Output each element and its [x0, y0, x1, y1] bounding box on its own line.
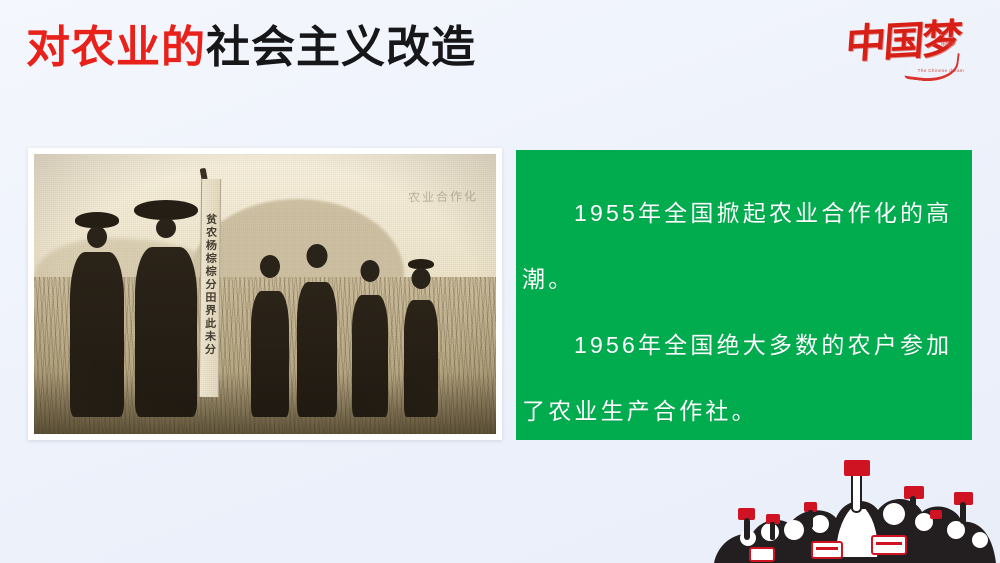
historical-photo-land-reform: 农业合作化 贫农杨棕棕分田界此未分	[34, 154, 496, 434]
crowd-arm	[744, 518, 750, 540]
red-book-icon	[930, 510, 942, 519]
crowd-figures	[714, 460, 996, 563]
green-text-panel: 1955年全国掀起农业合作化的高潮。 1956年全国绝大多数的农户参加了农业生产…	[516, 150, 972, 440]
crowd-head	[883, 503, 905, 525]
placard-line	[816, 547, 838, 550]
placard	[750, 548, 774, 561]
seal-stamp-icon: 中国梦	[941, 41, 956, 48]
crowd-arm	[770, 522, 775, 540]
page-title-highlight: 对农业的	[26, 23, 206, 72]
crowd-arm	[960, 502, 966, 524]
crowd-hero-arm	[852, 472, 861, 512]
photo-vignette-overlay	[34, 154, 496, 434]
crowd-head	[784, 520, 804, 540]
green-panel-paragraph-2: 1956年全国绝大多数的农户参加了农业生产合作社。	[522, 312, 964, 444]
crowd-head	[811, 515, 829, 533]
green-panel-paragraph-1: 1955年全国掀起农业合作化的高潮。	[522, 180, 964, 312]
crowd-arm	[910, 496, 916, 518]
page-title: 对农业的社会主义改造	[26, 20, 476, 76]
crowd-arm	[808, 510, 813, 528]
brush-swash-icon	[904, 47, 960, 85]
china-dream-logo: 中国梦 中国梦 The Chinese dream	[846, 16, 964, 88]
page-title-rest: 社会主义改造	[206, 23, 476, 72]
cheering-crowd-illustration	[708, 458, 1000, 563]
crowd-head	[972, 532, 988, 548]
placard-line	[876, 542, 902, 545]
logo-latin-tagline: The Chinese dream	[918, 68, 964, 74]
red-book-icon	[844, 460, 870, 476]
photo-frame: 农业合作化 贫农杨棕棕分田界此未分	[28, 148, 502, 440]
crowd-svg	[708, 458, 1000, 563]
slide-canvas: 对农业的社会主义改造 中国梦 中国梦 The Chinese dream 农业合…	[0, 0, 1000, 563]
